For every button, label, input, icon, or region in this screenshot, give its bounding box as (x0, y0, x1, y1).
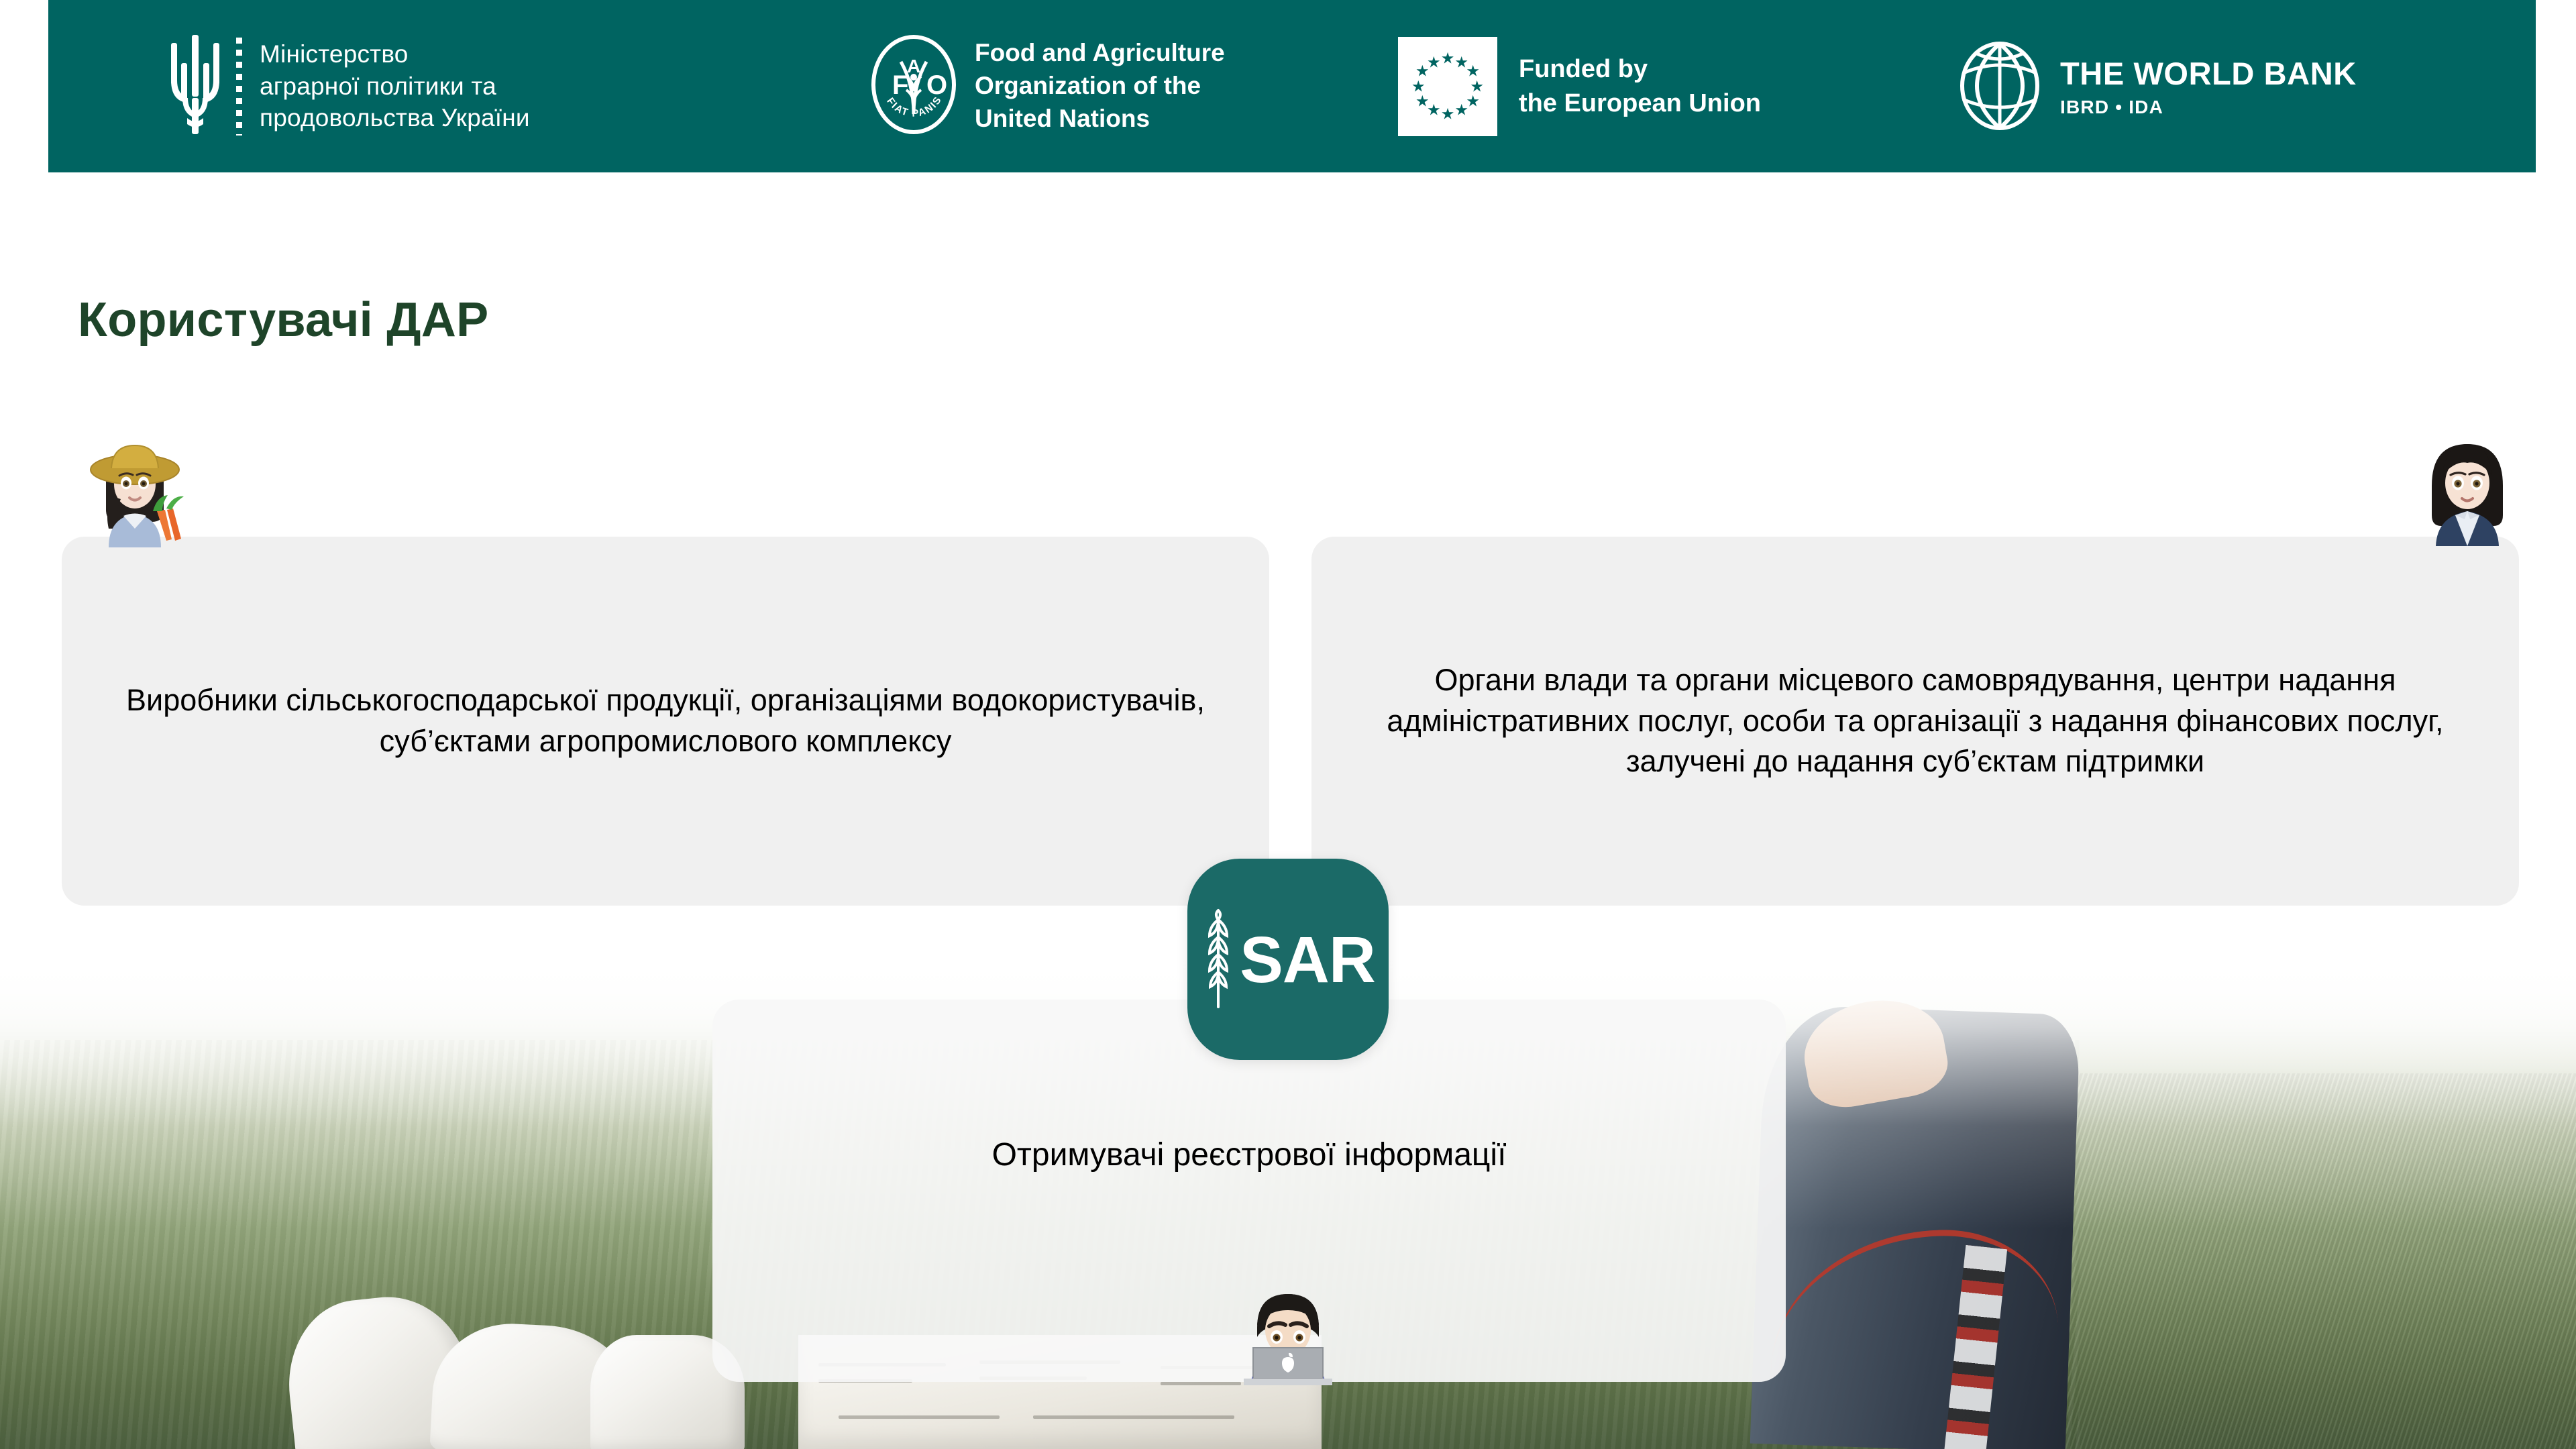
page-title: Користувачі ДАР (78, 292, 489, 347)
logo-divider (236, 38, 242, 136)
card-authorities-text: Органи влади та органи місцевого самовря… (1311, 660, 2519, 782)
card-producers: Виробники сільськогосподарської продукці… (62, 537, 1269, 906)
eu-flag-icon: ★ ★ ★ ★ ★ ★ ★ ★ ★ ★ ★ ★ (1398, 37, 1497, 136)
world-bank-globe-icon (1957, 38, 2043, 135)
woman-farmer-icon (72, 423, 197, 547)
fao-logo-block: F O A FIAT PANIS Food and Agriculture Or… (870, 35, 1225, 138)
fao-logo-text: Food and Agriculture Organization of the… (975, 37, 1225, 135)
wheat-stalk-icon (1201, 908, 1240, 1012)
card-authorities: Органи влади та органи місцевого самовря… (1311, 537, 2519, 906)
sar-wordmark: SAR (1240, 927, 1375, 992)
card-producers-text: Виробники сільськогосподарської продукці… (62, 680, 1269, 762)
world-bank-title: THE WORLD BANK (2060, 55, 2357, 92)
donor-logo-header: Міністерство аграрної політики та продов… (48, 0, 2536, 172)
card-recipients-text: Отримувачі реєстрової інформації (965, 1134, 1534, 1177)
sar-app-logo[interactable]: SAR (1187, 859, 1389, 1060)
world-bank-logo-block: THE WORLD BANK IBRD • IDA (1957, 38, 2357, 135)
fao-emblem-icon: F O A FIAT PANIS (870, 35, 957, 138)
man-technologist-icon (1234, 1278, 1342, 1385)
eu-logo-text: Funded by the European Union (1519, 52, 1761, 119)
eu-logo-block: ★ ★ ★ ★ ★ ★ ★ ★ ★ ★ ★ ★ Funded by the Eu… (1398, 37, 1761, 136)
svg-text:A: A (907, 56, 920, 76)
ministry-logo-text: Міністерство аграрної політики та продов… (260, 38, 530, 133)
woman-office-worker-icon (2405, 421, 2530, 546)
ministry-logo-block: Міністерство аграрної політики та продов… (169, 34, 530, 139)
world-bank-subtitle: IBRD • IDA (2060, 97, 2357, 118)
ukraine-trident-icon (169, 34, 221, 139)
